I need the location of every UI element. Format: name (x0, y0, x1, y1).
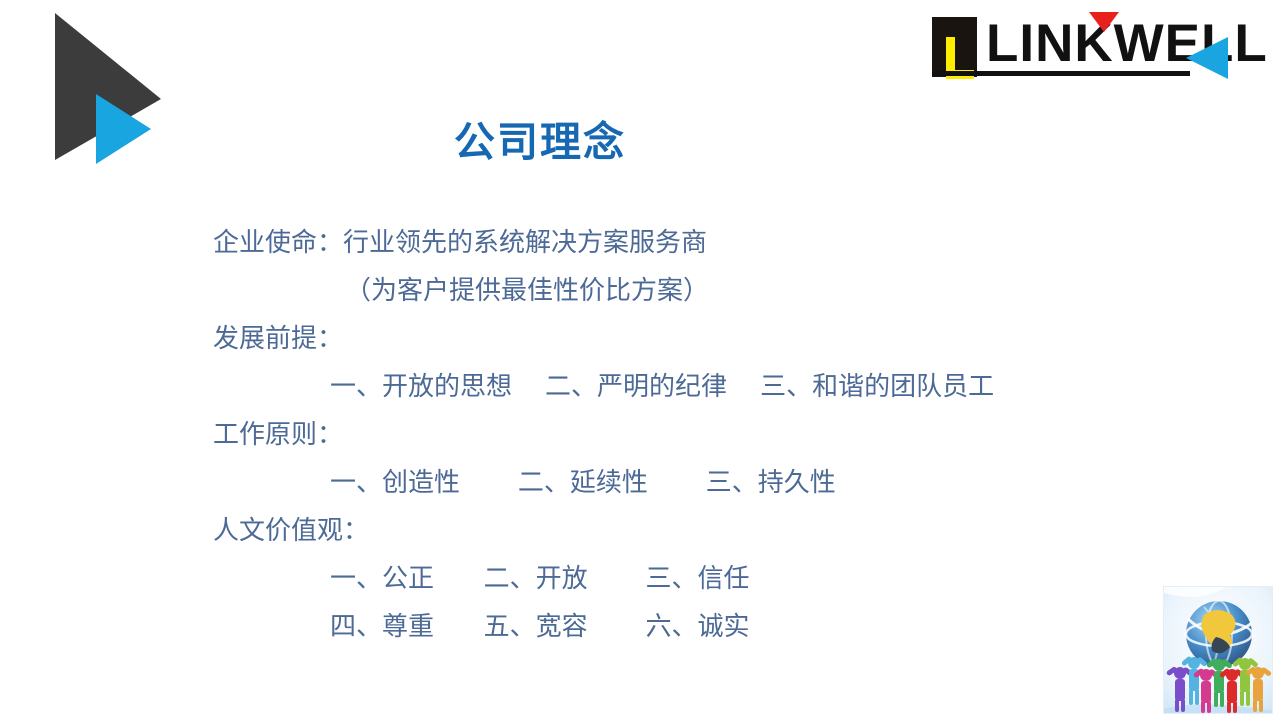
content-line: 一、公正 二、开放 三、信任 (213, 555, 1223, 603)
teamwork-globe-image (1163, 586, 1273, 714)
logo-underline (932, 71, 1190, 76)
blue-left-triangle-icon (1186, 37, 1228, 79)
content-line: 工作原则： (213, 411, 1223, 459)
content-line: 企业使命：行业领先的系统解决方案服务商 (213, 219, 1223, 267)
company-logo: LINKWELL (928, 8, 1232, 90)
content-line: 发展前提： (213, 315, 1223, 363)
content-line: 一、创造性 二、延续性 三、持久性 (213, 459, 1223, 507)
logo-square-icon (932, 17, 977, 77)
page-title: 公司理念 (0, 108, 1080, 168)
content-body: 企业使命：行业领先的系统解决方案服务商 （为客户提供最佳性价比方案） 发展前提：… (213, 219, 1223, 651)
content-line: 一、开放的思想 二、严明的纪律 三、和谐的团队员工 (213, 363, 1223, 411)
teamwork-globe-icon (1164, 587, 1273, 714)
slide-canvas: LINKWELL 公司理念 企业使命：行业领先的系统解决方案服务商 （为客户提供… (0, 0, 1280, 720)
content-line: 四、尊重 五、宽容 六、诚实 (213, 603, 1223, 651)
content-line: （为客户提供最佳性价比方案） (213, 267, 1223, 315)
red-triangle-icon (1089, 12, 1119, 32)
content-line: 人文价值观： (213, 507, 1223, 555)
